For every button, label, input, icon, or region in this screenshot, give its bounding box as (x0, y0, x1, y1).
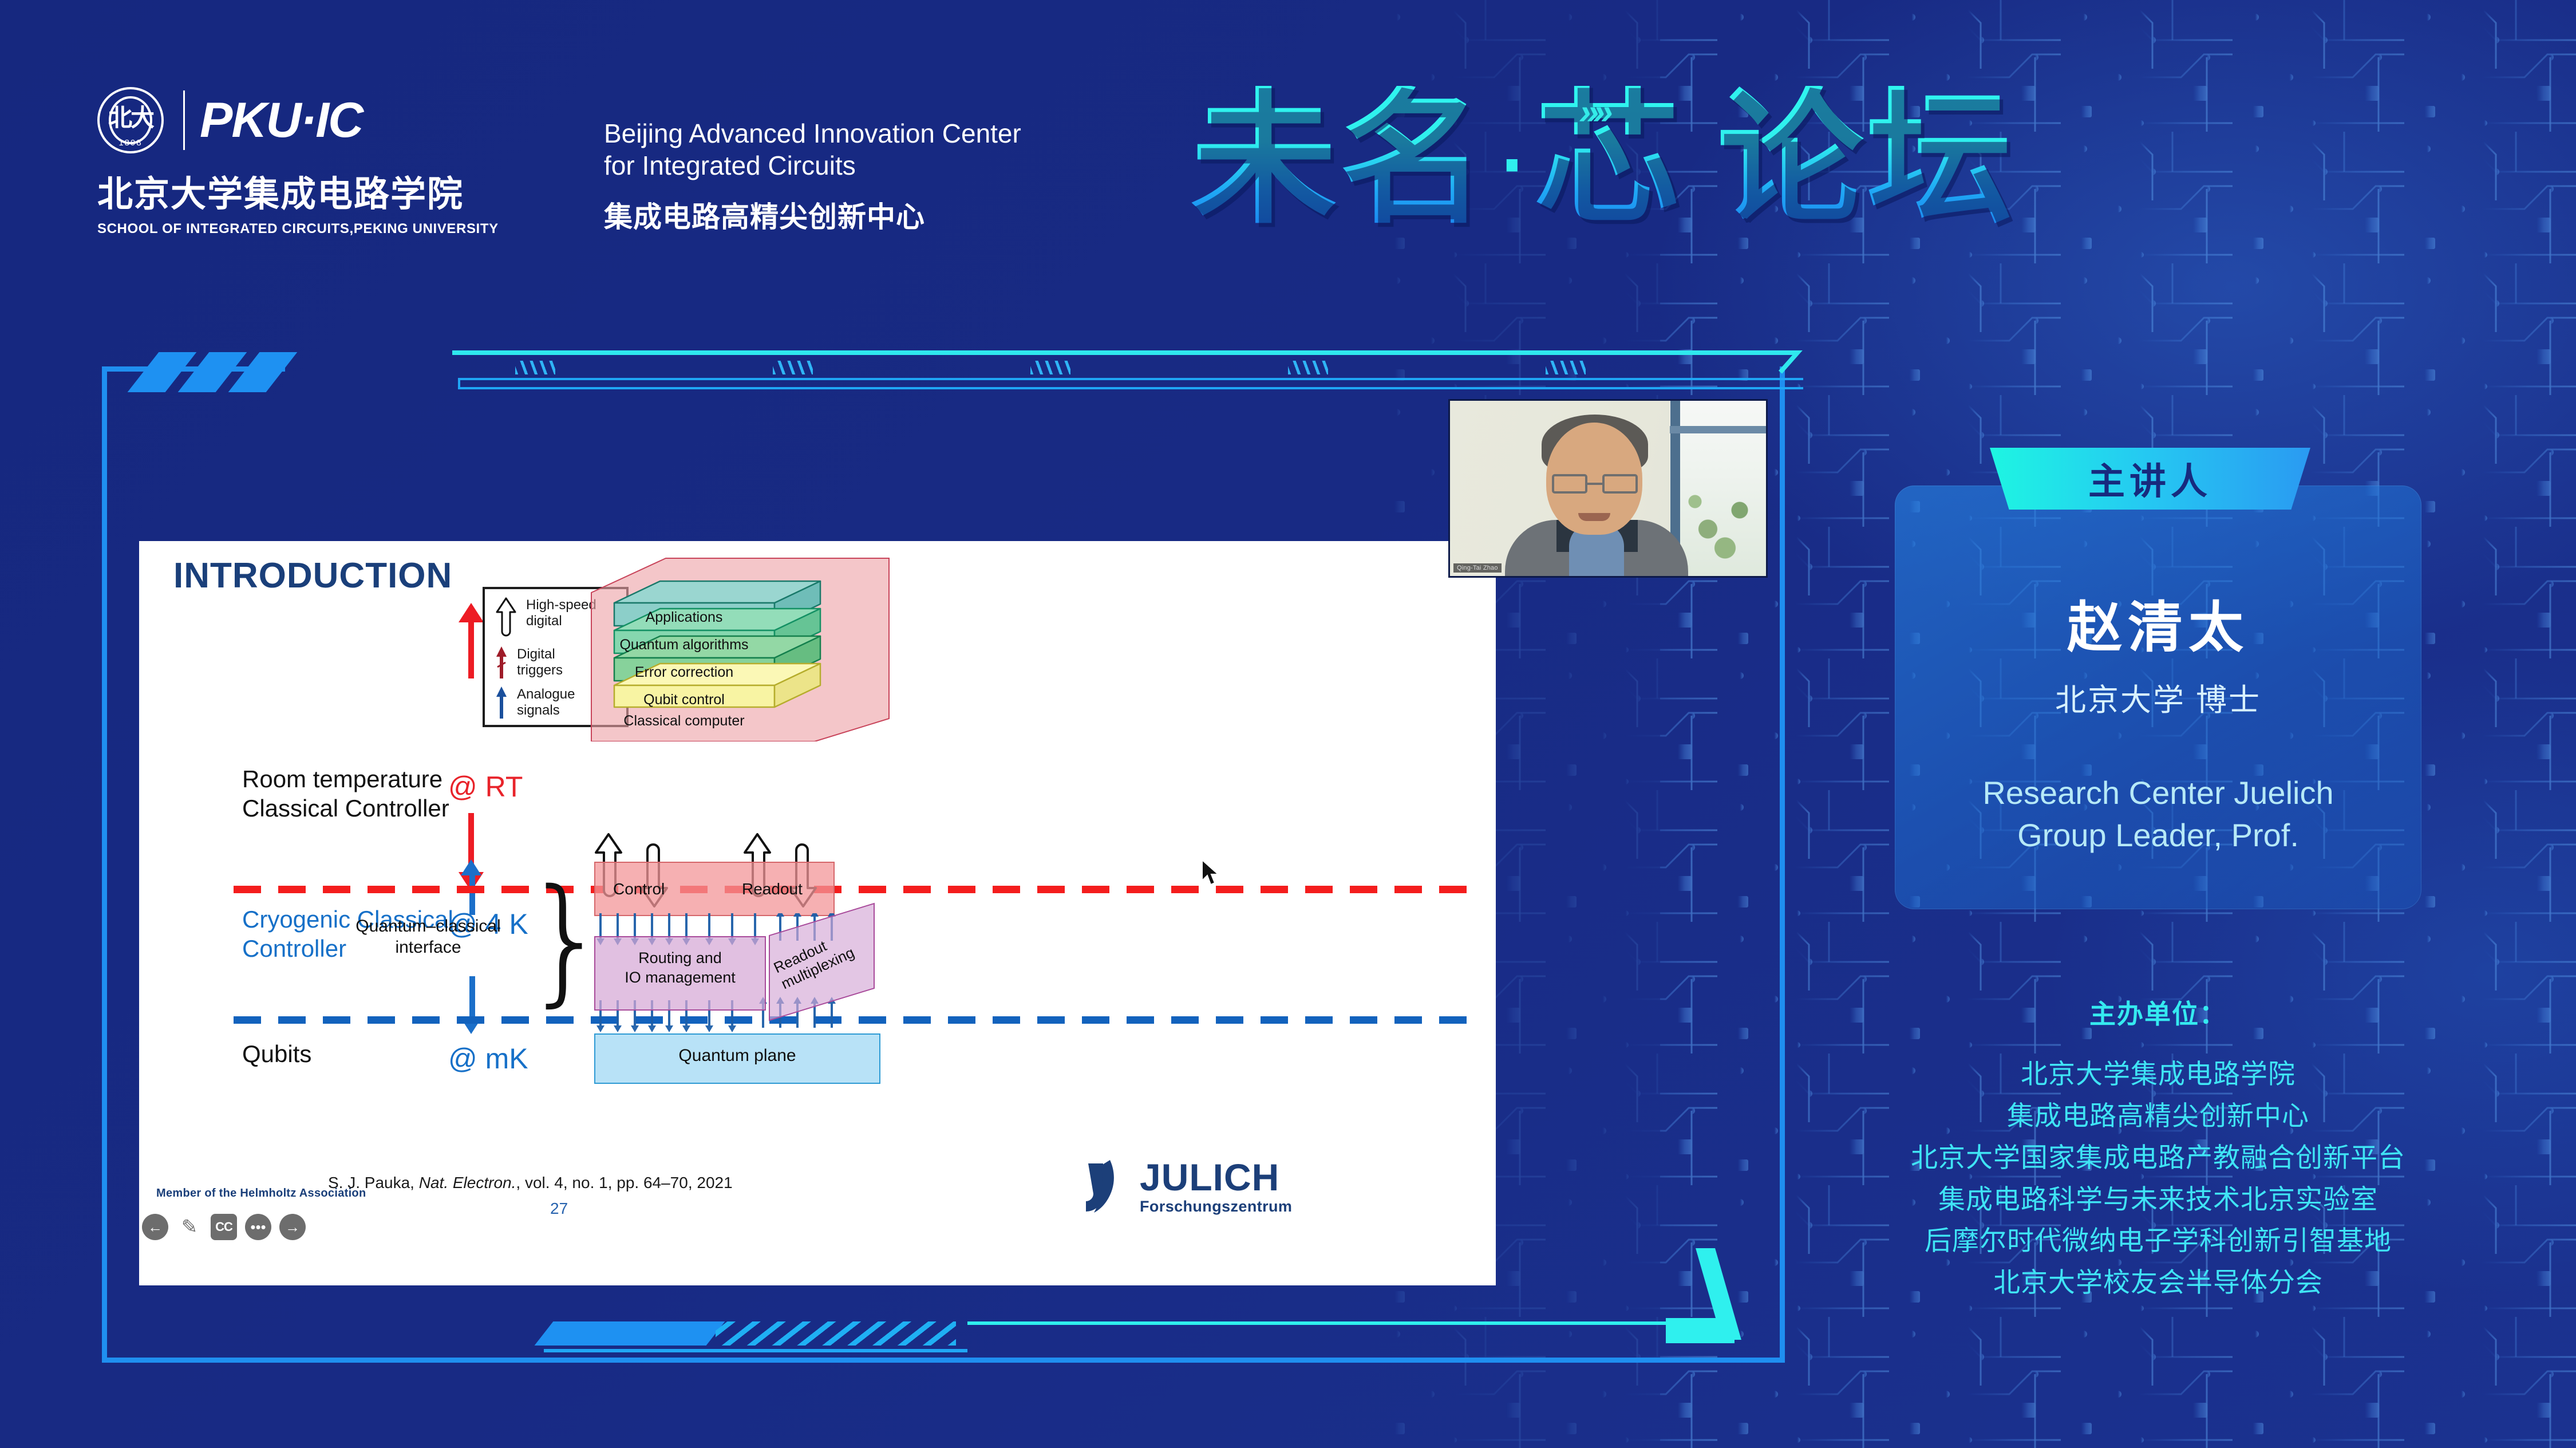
block-label-readout: Readout (742, 880, 803, 898)
red-arrow-up-head-icon (459, 603, 484, 622)
host-item: 集成电路科学与未来技术北京实验室 (1860, 1179, 2456, 1221)
label-qubits: Qubits (242, 1039, 311, 1068)
stack-enclosure-label: Classical computer (604, 713, 764, 729)
poster-header: 北大 1898 PKU·IC 北京大学集成电路学院 SCHOOL OF INTE… (0, 0, 2576, 321)
speaker-card: 赵清太 北京大学 博士 Research Center Juelich Grou… (1895, 486, 2421, 909)
baic-cn: 集成电路高精尖创新中心 (604, 194, 1021, 235)
blue-arrow-up-head-icon (461, 859, 481, 875)
slash-deco-top-left (128, 352, 325, 392)
legend-label-digital-triggers: Digital triggers (517, 646, 563, 679)
host-item: 后摩尔时代微纳电子学科创新引智基地 (1860, 1220, 2456, 1262)
seal-glyph: 北大 (100, 105, 161, 131)
slide-citation: S. J. Pauka, Nat. Electron., vol. 4, no.… (328, 1174, 733, 1192)
forum-title-char-1: 未 (1191, 86, 1340, 232)
speaker-name: 赵清太 (1895, 583, 2421, 662)
host-item: 北京大学集成电路学院 (1860, 1054, 2456, 1095)
block-label-quantum-plane: Quantum plane (594, 1046, 880, 1066)
video-participant-name: Qing-Tai Zhao (1453, 563, 1502, 573)
stack-layer-qubit-control: Qubit control (604, 688, 764, 714)
slide-title: INTRODUCTION (173, 555, 452, 596)
pen-tool-button[interactable]: ✎ (176, 1214, 203, 1240)
label-room-temperature: Room temperature Classical Controller (242, 764, 449, 823)
julich-mark-icon (1084, 1160, 1128, 1215)
pku-school-name-cn: 北京大学集成电路学院 (97, 165, 550, 216)
block-label-routing-io: Routing and IO management (603, 949, 757, 988)
temperature-mk: @ mK (448, 1042, 528, 1075)
legend-item-analogue-signals: Analogue signals (495, 686, 575, 719)
peking-university-seal-icon: 北大 1898 (97, 87, 164, 153)
speaker-video-thumbnail[interactable]: Qing-Tai Zhao (1448, 399, 1768, 578)
julich-name: JULICH (1140, 1156, 1279, 1198)
host-item: 北京大学国家集成电路产教融合创新平台 (1860, 1137, 2456, 1179)
slide-playback-toolbar[interactable]: ← ✎ CC ••• → (142, 1214, 306, 1240)
legend-item-digital-triggers: Digital triggers (495, 646, 563, 679)
closed-captions-button[interactable]: CC (211, 1214, 237, 1240)
forum-title-char-4: 论 (1717, 86, 1867, 232)
presentation-slide[interactable]: INTRODUCTION Room temperature Classical … (139, 541, 1496, 1285)
baic-en-line1: Beijing Advanced Innovation Center (604, 117, 1021, 149)
blue-up-arrow-icon (495, 686, 508, 719)
red-arrow-up-shaft (468, 616, 474, 678)
interface-brace-icon: } (523, 885, 610, 995)
forum-title-char-5: 坛 (1867, 86, 2016, 232)
speaker-affiliation: 北京大学 博士 (1895, 674, 2421, 720)
hosts-list: 北京大学集成电路学院 集成电路高精尖创新中心 北京大学国家集成电路产教融合创新平… (1860, 1054, 2456, 1304)
speaker-organization: Research Center Juelich Group Leader, Pr… (1895, 772, 2421, 857)
blue-arrow-down-shaft (469, 976, 475, 1021)
pku-school-name-en: SCHOOL OF INTEGRATED CIRCUITS,PEKING UNI… (97, 221, 550, 237)
innovation-center-block: Beijing Advanced Innovation Center for I… (604, 117, 1021, 235)
previous-slide-button[interactable]: ← (142, 1214, 168, 1240)
temperature-rt: @ RT (448, 770, 523, 803)
frame-top-bar (452, 349, 1815, 397)
speaker-badge-label: 主讲人 (2088, 452, 2212, 505)
slide-page-number: 27 (550, 1200, 568, 1218)
block-label-control: Control (613, 880, 665, 898)
helmholtz-footer: Member of the Helmholtz Association (156, 1187, 366, 1200)
baic-en-line2: for Integrated Circuits (604, 149, 1021, 182)
pku-logo-block: 北大 1898 PKU·IC 北京大学集成电路学院 SCHOOL OF INTE… (97, 86, 550, 237)
julich-logo: JULICH Forschungszentrum (1084, 1159, 1292, 1216)
poster-stage: 北大 1898 PKU·IC 北京大学集成电路学院 SCHOOL OF INTE… (0, 0, 2576, 1448)
forum-title-char-2: 名 (1340, 86, 1490, 232)
frame-bottom-bar (544, 1311, 1786, 1363)
stack-layer-applications: Applications (604, 605, 764, 632)
julich-subtitle: Forschungszentrum (1140, 1198, 1292, 1216)
next-slide-button[interactable]: → (279, 1214, 306, 1240)
pkuic-wordmark: PKU·IC (200, 96, 362, 145)
logo-divider (183, 90, 185, 150)
hollow-up-arrow-icon (495, 597, 517, 638)
seal-year: 1898 (100, 138, 161, 148)
quantum-classical-interface-label: Quantum–classical interface (342, 916, 514, 958)
speaker-badge: 主讲人 (1990, 448, 2310, 510)
host-item: 北京大学校友会半导体分会 (1860, 1262, 2456, 1304)
forum-title-dot: · (1490, 86, 1535, 229)
stack-layer-error-correction: Error correction (604, 660, 764, 686)
red-up-arrow-icon (495, 646, 508, 678)
stack-layer-quantum-algorithms: Quantum algorithms (604, 633, 764, 659)
host-item: 集成电路高精尖创新中心 (1860, 1095, 2456, 1137)
more-options-button[interactable]: ••• (245, 1214, 271, 1240)
legend-label-analogue-signals: Analogue signals (517, 686, 575, 719)
glasses-icon (1552, 474, 1638, 494)
forum-title-char-3: 芯 (1535, 86, 1684, 232)
hosts-title: 主办单位： (1895, 993, 2421, 1031)
